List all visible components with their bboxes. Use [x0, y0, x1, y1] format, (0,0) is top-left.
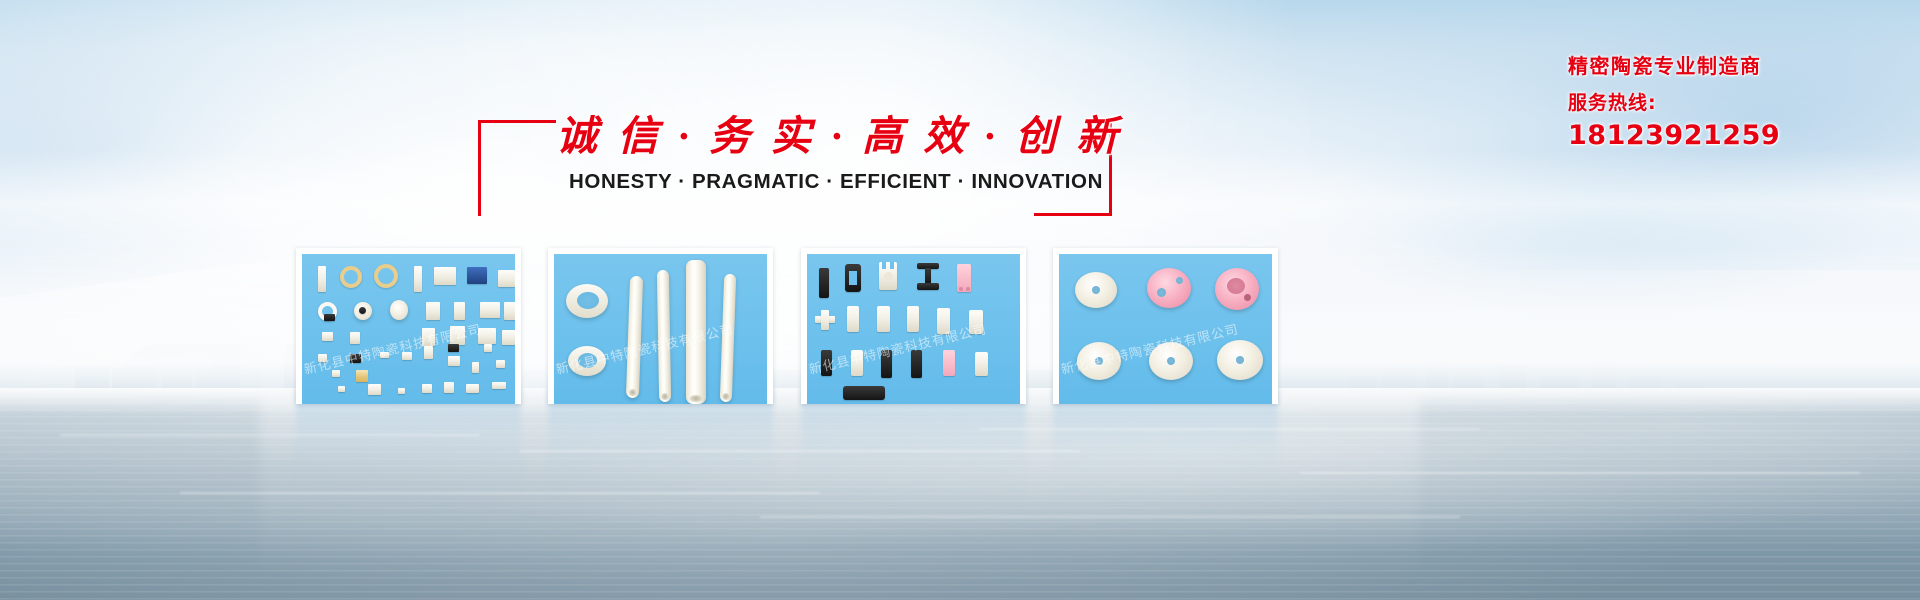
- panel-reflection-1: [296, 388, 521, 508]
- bracket-top-left: [478, 120, 556, 216]
- product-gallery: 新化县中特陶瓷科技有限公司 新化县中特陶瓷科技有限公司: [296, 248, 1278, 404]
- ceramic-tube-4: [720, 274, 736, 402]
- product-image-3: 新化县中特陶瓷科技有限公司: [807, 254, 1020, 404]
- product-image-1: 新化县中特陶瓷科技有限公司: [302, 254, 515, 404]
- slogan-block: 诚 信 · 务 实 · 高 效 · 创 新 HONESTY · PRAGMATI…: [478, 108, 1098, 208]
- disc-white-3: [1149, 342, 1193, 380]
- ceramic-tube-2: [657, 270, 671, 402]
- hotline-label: 服务热线:: [1568, 90, 1828, 116]
- panel-reflection-3: [801, 388, 1026, 508]
- product-image-4: 新化县中特陶瓷科技有限公司: [1059, 254, 1272, 404]
- disc-white-2: [1077, 342, 1121, 380]
- wet-ground: [0, 388, 1920, 600]
- disc-white-4: [1217, 340, 1263, 380]
- product-panel-3[interactable]: 新化县中特陶瓷科技有限公司: [801, 248, 1026, 404]
- slogan-english: HONESTY · PRAGMATIC · EFFICIENT · INNOVA…: [556, 170, 1116, 194]
- contact-block: 精密陶瓷专业制造商 服务热线: 18123921259: [1568, 52, 1828, 152]
- disc-white-1: [1075, 272, 1117, 308]
- city-skyline-right: [1330, 312, 1750, 390]
- hotline-number[interactable]: 18123921259: [1568, 120, 1828, 152]
- product-panel-1[interactable]: 新化县中特陶瓷科技有限公司: [296, 248, 521, 404]
- panel-reflection-2: [548, 388, 773, 508]
- ceramic-tube-1: [626, 276, 643, 398]
- hero-banner: 诚 信 · 务 实 · 高 效 · 创 新 HONESTY · PRAGMATI…: [0, 0, 1920, 600]
- product-panel-2[interactable]: 新化县中特陶瓷科技有限公司: [548, 248, 773, 404]
- panel-reflection-4: [1053, 388, 1278, 508]
- product-panel-4[interactable]: 新化县中特陶瓷科技有限公司: [1053, 248, 1278, 404]
- slogan-chinese: 诚 信 · 务 实 · 高 效 · 创 新: [556, 108, 1116, 164]
- disc-pink-1: [1147, 268, 1191, 308]
- disc-pink-2: [1215, 268, 1259, 310]
- maker-tagline: 精密陶瓷专业制造商: [1568, 52, 1828, 80]
- ceramic-tube-3: [686, 260, 706, 404]
- product-image-2: 新化县中特陶瓷科技有限公司: [554, 254, 767, 404]
